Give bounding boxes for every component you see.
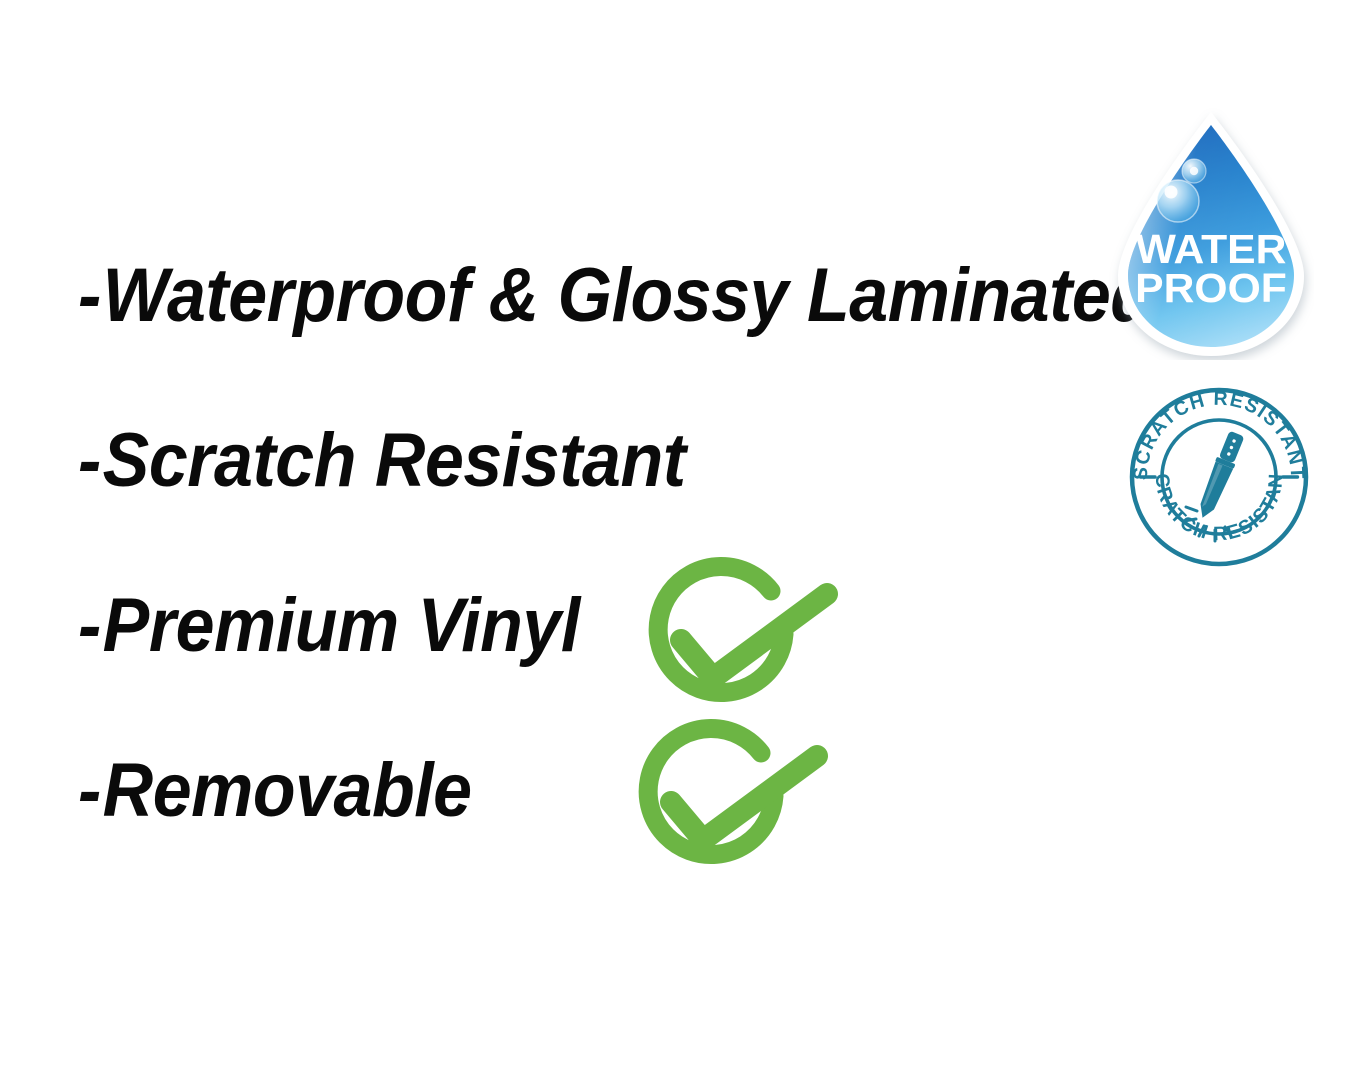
feature-dash: - (78, 753, 101, 829)
checkmark-removable (630, 718, 830, 878)
feature-item-premium-vinyl: -Premium Vinyl (78, 588, 580, 664)
feature-label: Waterproof & Glossy Laminated (103, 253, 1153, 338)
waterproof-badge: WATER PROOF (1108, 108, 1314, 360)
feature-item-waterproof-glossy-laminated: -Waterproof & Glossy Laminated (78, 258, 1153, 334)
feature-list-graphic: -Waterproof & Glossy Laminated -Scratch … (0, 0, 1359, 1080)
feature-label: Premium Vinyl (103, 583, 580, 668)
water-drop-icon (1108, 108, 1314, 360)
checkmark-premium-vinyl (640, 556, 840, 716)
scratch-resistant-badge: SCRATCH RESISTANT SCRATCH RESISTANT (1125, 383, 1313, 571)
water-bubble-large-icon (1157, 180, 1199, 222)
feature-dash: - (78, 423, 101, 499)
check-circle-icon (640, 556, 840, 716)
feature-label: Scratch Resistant (103, 418, 686, 503)
knife-seal-icon: SCRATCH RESISTANT SCRATCH RESISTANT (1125, 383, 1313, 571)
feature-item-removable: -Removable (78, 753, 472, 829)
knife-icon (1194, 430, 1247, 522)
feature-dash: - (78, 588, 101, 664)
check-circle-icon (630, 718, 830, 878)
feature-item-scratch-resistant: -Scratch Resistant (78, 423, 686, 499)
feature-label: Removable (103, 748, 472, 833)
feature-dash: - (78, 258, 101, 334)
